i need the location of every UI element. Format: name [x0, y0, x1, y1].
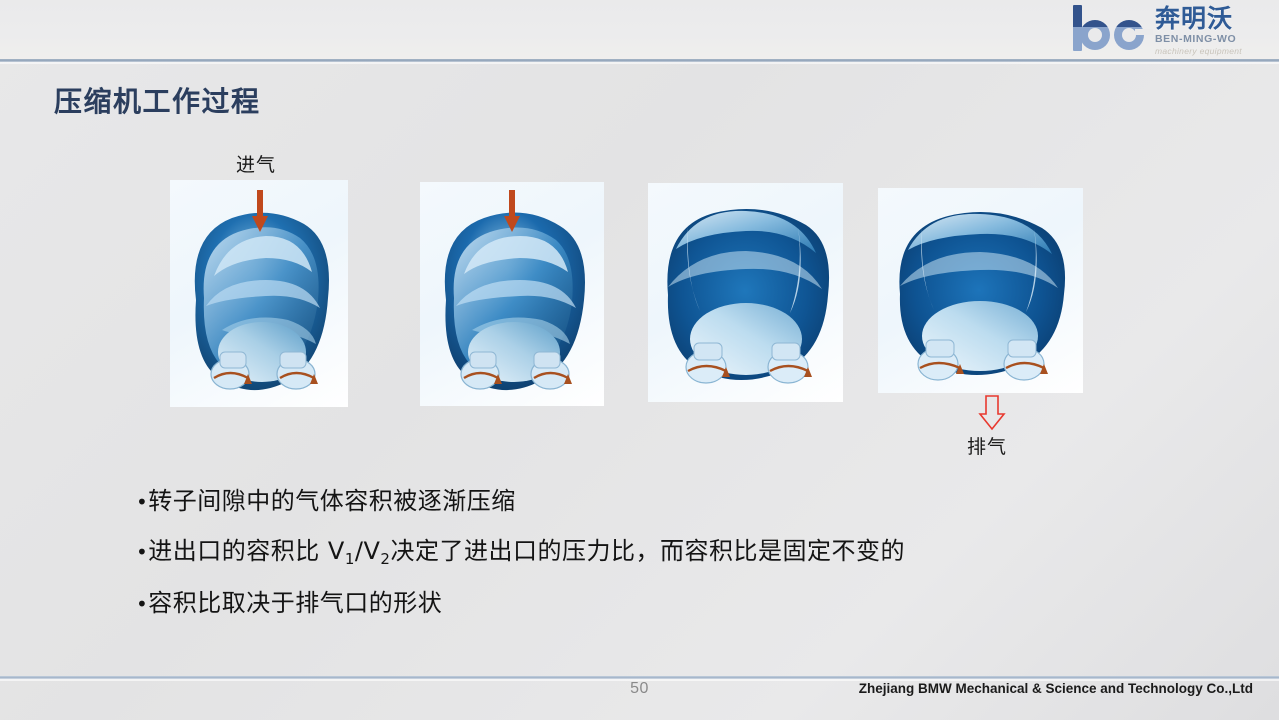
footer-company-name: Zhejiang BMW Mechanical & Science and Te…: [859, 681, 1253, 696]
bullet-marker: •: [136, 592, 148, 616]
intake-label: 进气: [236, 150, 276, 177]
bo-monogram-icon: [1071, 5, 1153, 51]
header-divider-highlight: [0, 62, 1279, 64]
rotor-figure-stage-1: [170, 180, 348, 407]
bullet-text-pre: 进出口的容积比 V: [148, 537, 345, 565]
company-logo: 奔明沃 BEN-MING-WO machinery equipment: [1071, 4, 1271, 58]
bullet-text-mid: /V: [355, 537, 381, 565]
logo-english-name: BEN-MING-WO: [1155, 33, 1242, 45]
bullet-marker: •: [136, 540, 148, 564]
page-title: 压缩机工作过程: [54, 80, 261, 120]
list-item: •容积比取决于排气口的形状: [136, 579, 1136, 629]
logo-tagline: machinery equipment: [1155, 46, 1242, 56]
intake-arrow-icon: [251, 190, 269, 234]
intake-arrow-icon: [503, 190, 521, 234]
list-item: •转子间隙中的气体容积被逐渐压缩: [136, 477, 1136, 527]
rotor-figure-stage-2: [420, 182, 604, 406]
logo-chinese-name: 奔明沃: [1155, 5, 1242, 32]
bullet-text-post: 决定了进出口的压力比，而容积比是固定不变的: [390, 537, 905, 565]
list-item: •进出口的容积比 V1/V2决定了进出口的压力比，而容积比是固定不变的: [136, 527, 1136, 579]
exhaust-arrow-icon: [972, 395, 1012, 431]
bullet-marker: •: [136, 490, 148, 514]
bullet-text: 容积比取决于排气口的形状: [148, 589, 442, 617]
exhaust-label: 排气: [967, 432, 1007, 459]
bullet-subscript-1: 1: [345, 550, 355, 568]
bullet-text: 转子间隙中的气体容积被逐渐压缩: [148, 487, 516, 515]
bullet-list: •转子间隙中的气体容积被逐渐压缩 •进出口的容积比 V1/V2决定了进出口的压力…: [136, 477, 1136, 629]
rotor-figure-stage-3: [648, 183, 843, 402]
bullet-subscript-2: 2: [380, 550, 390, 568]
rotor-figure-stage-4: [878, 188, 1083, 393]
